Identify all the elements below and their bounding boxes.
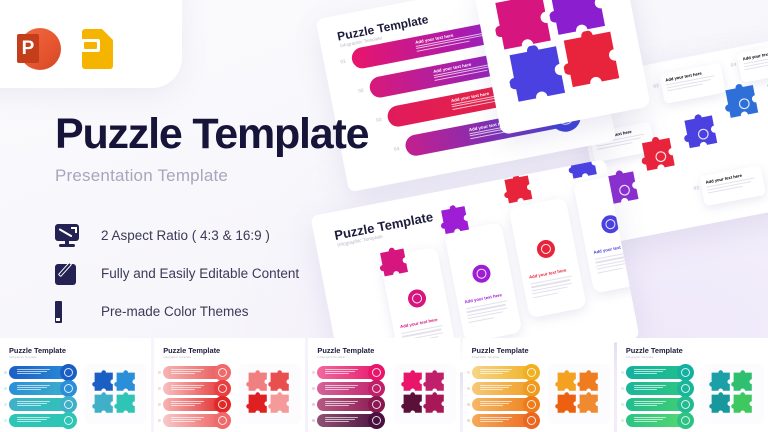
- thumbnail-puzzle-panel: [394, 364, 456, 424]
- puzzle-piece: [680, 110, 727, 157]
- row-tick: [4, 387, 7, 390]
- row-number: 03: [376, 117, 383, 124]
- row-tick: [158, 387, 161, 390]
- thumbnail-theme-blue[interactable]: Puzzle Template Infographic Template: [0, 338, 151, 432]
- puzzle-piece: [376, 244, 416, 284]
- thumbnail-theme-red[interactable]: Puzzle Template Infographic Template: [154, 338, 305, 432]
- list-item: [317, 382, 383, 395]
- timeline-bubble: Add your text here: [699, 165, 766, 206]
- thumbnail-subtitle: Infographic Template: [163, 355, 191, 359]
- list-item: [626, 382, 692, 395]
- list-item: [317, 366, 383, 379]
- monitor-icon: [54, 222, 80, 248]
- feature-label: Pre-made Color Themes: [101, 304, 249, 319]
- timeline-number: 04: [730, 62, 737, 69]
- thumbnail-subtitle: Infographic Template: [317, 355, 345, 359]
- list-item: [9, 398, 75, 411]
- page-subtitle: Presentation Template: [55, 166, 368, 186]
- row-tick: [312, 403, 315, 406]
- timeline-bubble: Add your text here: [659, 63, 726, 104]
- list-item: [472, 366, 538, 379]
- feature-item-color-themes: Pre-made Color Themes: [54, 292, 299, 330]
- row-number: 02: [358, 88, 365, 95]
- thumbnail-title: Puzzle Template: [626, 346, 683, 355]
- row-tick: [467, 387, 470, 390]
- row-tick: [467, 371, 470, 374]
- puzzle-piece: [763, 57, 768, 104]
- row-tick: [621, 371, 624, 374]
- powerpoint-icon: P: [15, 26, 61, 72]
- timeline-number: 03: [693, 185, 700, 192]
- list-item: [472, 398, 538, 411]
- row-tick: [4, 419, 7, 422]
- puzzle-piece: [423, 392, 449, 418]
- hero-text-block: Puzzle Template Presentation Template: [55, 112, 368, 186]
- page-title: Puzzle Template: [55, 112, 368, 157]
- timeline-bubble: Add your text here: [737, 42, 768, 83]
- list-item: [472, 382, 538, 395]
- row-tick: [312, 371, 315, 374]
- list-item: [163, 366, 229, 379]
- thumbnail-title: Puzzle Template: [163, 346, 220, 355]
- thumbnail-puzzle-panel: [85, 364, 147, 424]
- edit-pencil-icon: [54, 260, 80, 286]
- thumbnail-theme-magenta[interactable]: Puzzle Template Infographic Template: [308, 338, 459, 432]
- card-badge: [406, 288, 427, 309]
- puzzle-piece: [268, 392, 294, 418]
- list-item: [317, 414, 383, 427]
- row-tick: [467, 403, 470, 406]
- list-item: [626, 414, 692, 427]
- feature-list: 2 Aspect Ratio ( 4:3 & 16:9 ) Fully and …: [54, 216, 299, 330]
- thumbnail-puzzle-panel: [702, 364, 764, 424]
- list-item: [9, 414, 75, 427]
- row-tick: [621, 419, 624, 422]
- thumbnail-puzzle-panel: [239, 364, 301, 424]
- puzzle-piece: [558, 24, 633, 99]
- puzzle-piece: [437, 201, 477, 241]
- app-format-card: P: [0, 0, 182, 88]
- row-number: 01: [340, 59, 347, 66]
- puzzle-piece: [637, 132, 684, 179]
- thumbnail-title: Puzzle Template: [317, 346, 374, 355]
- row-tick: [621, 403, 624, 406]
- card-badge: [471, 263, 492, 284]
- row-tick: [158, 403, 161, 406]
- list-item: [317, 398, 383, 411]
- thumbnail-subtitle: Infographic Template: [472, 355, 500, 359]
- google-slides-icon: [75, 26, 121, 72]
- slide-title: Puzzle Template: [333, 209, 434, 243]
- row-tick: [158, 419, 161, 422]
- list-item: [472, 414, 538, 427]
- row-tick: [158, 371, 161, 374]
- thumbnail-theme-orange[interactable]: Puzzle Template Infographic Template: [463, 338, 614, 432]
- list-item: [9, 366, 75, 379]
- thumbnail-title: Puzzle Template: [9, 346, 66, 355]
- puzzle-piece: [577, 392, 603, 418]
- feature-label: Fully and Easily Editable Content: [101, 266, 299, 281]
- list-item: [163, 382, 229, 395]
- puzzle-piece: [731, 392, 757, 418]
- row-tick: [4, 371, 7, 374]
- card-item: Add your text here: [509, 197, 587, 318]
- list-item: [626, 366, 692, 379]
- theme-thumbnail-strip: Puzzle Template Infographic Template Puz…: [0, 338, 768, 432]
- row-tick: [621, 387, 624, 390]
- color-fan-icon: [54, 298, 80, 324]
- thumbnail-subtitle: Infographic Template: [626, 355, 654, 359]
- row-tick: [467, 419, 470, 422]
- list-item: [9, 382, 75, 395]
- list-item: [163, 414, 229, 427]
- timeline-number: 02: [653, 83, 660, 90]
- feature-label: 2 Aspect Ratio ( 4:3 & 16:9 ): [101, 228, 270, 243]
- list-item: [626, 398, 692, 411]
- list-item: [163, 398, 229, 411]
- row-tick: [312, 419, 315, 422]
- thumbnail-title: Puzzle Template: [472, 346, 529, 355]
- thumbnail-puzzle-panel: [548, 364, 610, 424]
- card-item: Add your text here: [444, 222, 522, 343]
- card-badge: [535, 238, 556, 259]
- card-caption: Add your text here: [593, 243, 631, 255]
- row-tick: [312, 387, 315, 390]
- puzzle-piece: [500, 171, 540, 211]
- thumbnail-subtitle: Infographic Template: [9, 355, 37, 359]
- thumbnail-theme-green[interactable]: Puzzle Template Infographic Template: [617, 338, 768, 432]
- row-tick: [4, 403, 7, 406]
- row-number: 04: [393, 146, 400, 153]
- feature-item-editable: Fully and Easily Editable Content: [54, 254, 299, 292]
- puzzle-piece: [114, 392, 140, 418]
- powerpoint-letter: P: [17, 34, 39, 63]
- puzzle-piece: [721, 80, 768, 127]
- feature-item-aspect-ratio: 2 Aspect Ratio ( 4:3 & 16:9 ): [54, 216, 299, 254]
